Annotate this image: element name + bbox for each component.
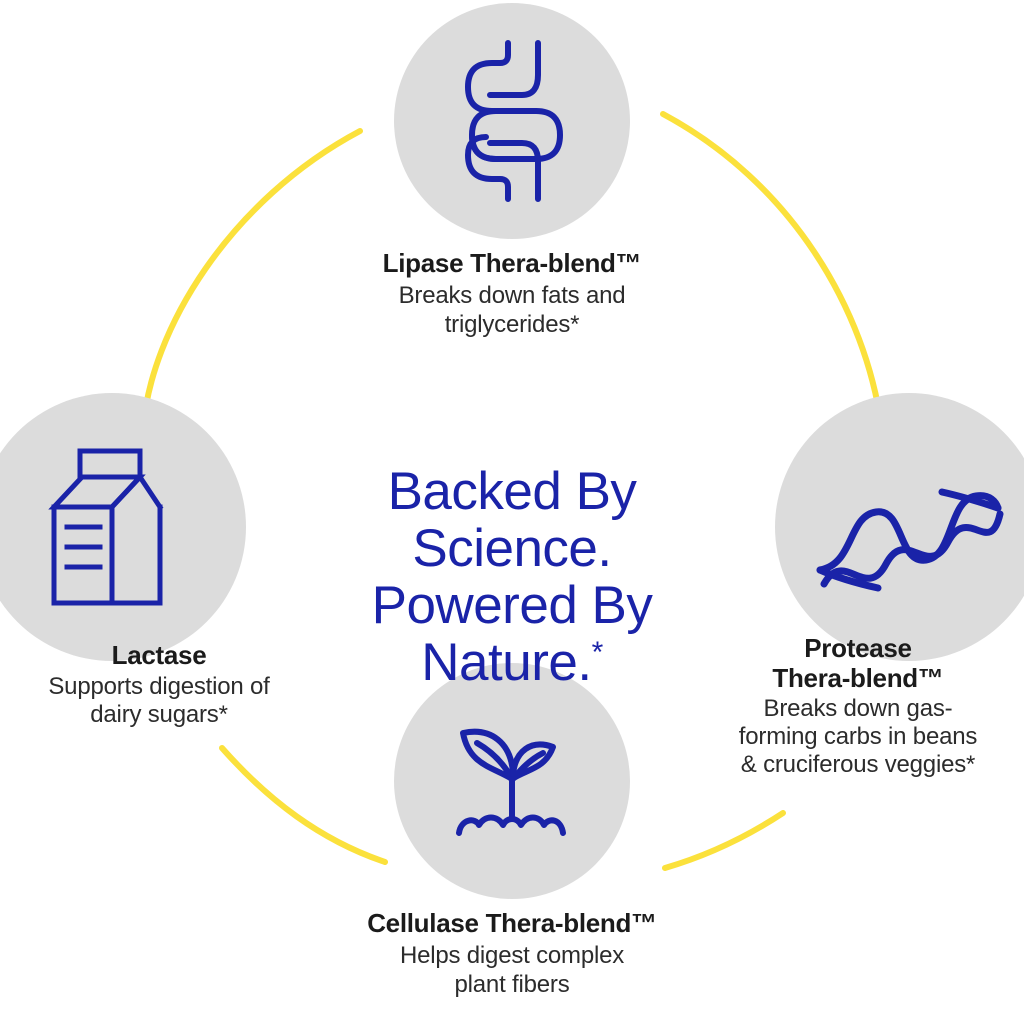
milk-carton-icon bbox=[50, 447, 175, 607]
node-title-lactase: Lactase bbox=[0, 640, 354, 671]
node-title-lipase: Lipase Thera-blend™ bbox=[262, 248, 762, 279]
arc-bottom-left bbox=[222, 748, 385, 862]
node-disc-cellulase bbox=[394, 663, 630, 899]
caption-cellulase: Cellulase Thera-blend™ Helps digest comp… bbox=[272, 908, 752, 999]
node-desc-lactase: Supports digestion of dairy sugars* bbox=[0, 673, 354, 729]
node-disc-protease bbox=[775, 393, 1024, 661]
caption-lactase: Lactase Supports digestion of dairy suga… bbox=[0, 640, 354, 729]
node-title-cellulase: Cellulase Thera-blend™ bbox=[272, 908, 752, 939]
center-headline-text: Backed By Science. Powered By Nature. bbox=[372, 462, 653, 692]
node-desc-lipase: Breaks down fats and triglycerides* bbox=[262, 281, 762, 339]
intestine-icon bbox=[452, 41, 572, 201]
infographic-canvas: Lipase Thera-blend™ Breaks down fats and… bbox=[0, 0, 1024, 1012]
caption-lipase: Lipase Thera-blend™ Breaks down fats and… bbox=[262, 248, 762, 339]
caption-protease: Protease Thera-blend™ Breaks down gas- f… bbox=[688, 633, 1024, 779]
node-disc-lactase bbox=[0, 393, 246, 661]
center-footnote-marker: * bbox=[592, 636, 603, 669]
node-disc-lipase bbox=[394, 3, 630, 239]
arc-bottom-right bbox=[665, 813, 783, 868]
plant-sprout-icon bbox=[447, 721, 577, 841]
center-headline: Backed By Science. Powered By Nature.* bbox=[312, 406, 712, 691]
node-desc-protease: Breaks down gas- forming carbs in beans … bbox=[688, 695, 1024, 779]
node-desc-cellulase: Helps digest complex plant fibers bbox=[272, 941, 752, 999]
node-title-protease: Protease Thera-blend™ bbox=[688, 633, 1024, 693]
dna-helix-icon bbox=[814, 452, 1004, 602]
